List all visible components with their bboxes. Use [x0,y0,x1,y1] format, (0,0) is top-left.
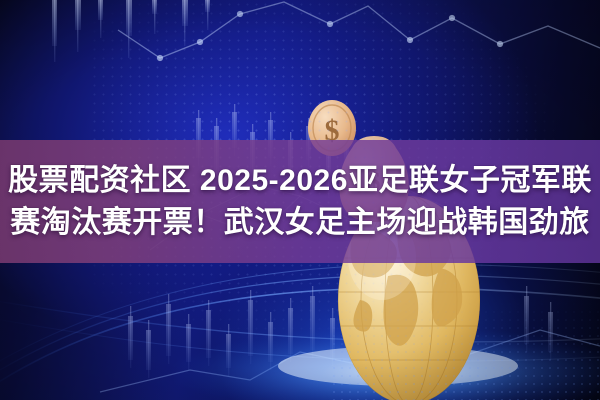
headline-line-1: 股票配资社区 2025-2026亚足联女子冠军联 [8,161,592,201]
promo-banner: $ $ 股票配资社区 2025-2026亚足联女子冠军联 赛淘汰赛开票！武汉女足… [0,0,600,400]
headline-line-2: 赛淘汰赛开票！武汉女足主场迎战韩国劲旅 [10,203,590,243]
headline-container: 股票配资社区 2025-2026亚足联女子冠军联 赛淘汰赛开票！武汉女足主场迎战… [0,140,600,263]
